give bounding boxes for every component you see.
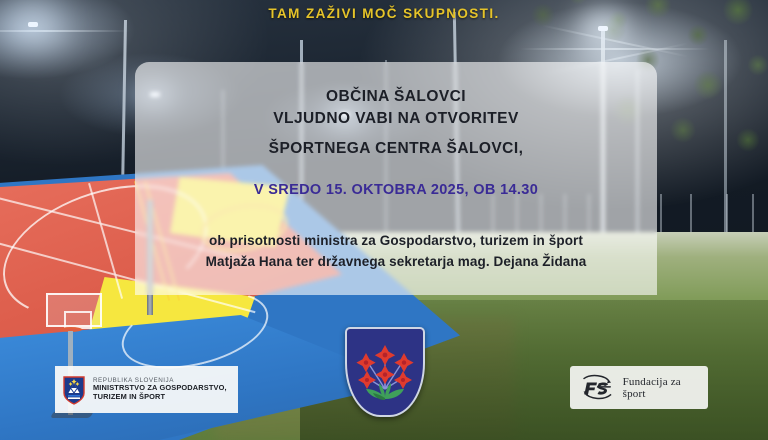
ministry-name-line-2: TURIZEM IN ŠPORT (93, 393, 227, 402)
ministry-logo: REPUBLIKA SLOVENIJA MINISTRSTVO ZA GOSPO… (55, 366, 238, 413)
floodlight-lamp-icon (598, 26, 608, 31)
guests-line-1: ob prisotnosti ministra za Gospodarstvo,… (135, 230, 657, 251)
shield-charges (345, 327, 425, 417)
slovenia-coat-of-arms-icon (62, 375, 86, 405)
event-date-time: V SREDO 15. OKTOBRA 2025, OB 14.30 (135, 182, 657, 198)
tagline: TAM ZAŽIVI MOČ SKUPNOSTI. (0, 6, 768, 21)
backboard (46, 293, 102, 327)
foundation-label: Fundacija za šport (623, 376, 700, 400)
fs-monogram-icon (578, 371, 617, 405)
salovci-coat-of-arms-icon (345, 327, 425, 417)
foundation-logo: Fundacija za šport (570, 366, 708, 409)
invitation-poster: TAM ZAŽIVI MOČ SKUPNOSTI. OBČINA ŠALOVCI… (0, 0, 768, 440)
ministry-logo-text: REPUBLIKA SLOVENIJA MINISTRSTVO ZA GOSPO… (93, 377, 227, 402)
floodlight-lamp-icon (28, 22, 38, 27)
headline-line-1: OBČINA ŠALOVCI (135, 86, 657, 108)
guests-block: ob prisotnosti ministra za Gospodarstvo,… (135, 230, 657, 272)
headline-block: OBČINA ŠALOVCI VLJUDNO VABI NA OTVORITEV… (135, 86, 657, 160)
guests-line-2: Matjaža Hana ter državnega sekretarja ma… (135, 251, 657, 272)
headline-line-2: VLJUDNO VABI NA OTVORITEV (135, 108, 657, 130)
headline-line-3: ŠPORTNEGA CENTRA ŠALOVCI, (135, 138, 657, 160)
